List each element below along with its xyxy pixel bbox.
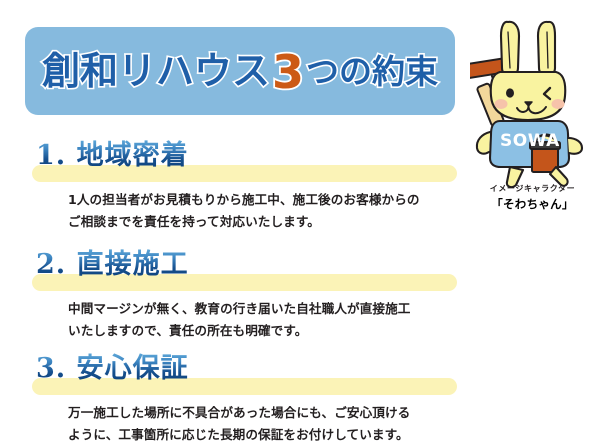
mascot-head	[491, 72, 565, 120]
page-title-prefix: 創和リハウス	[42, 52, 270, 90]
promise-2-heading-text: 直接施工	[77, 249, 189, 280]
promise-1-body-line-2: ご相談までを責任を持って対応いたします。	[68, 211, 600, 233]
promise-3-body-line-2: ように、工事箇所に応じた長期の保証をお付けしています。	[68, 424, 600, 446]
mascot-eye-left	[506, 88, 514, 97]
page-title-number: 3	[272, 49, 304, 95]
promise-3-number: 3	[36, 353, 56, 384]
promise-poster: 創和リハウス3つの約束	[0, 0, 600, 448]
promise-1-separator: .	[56, 140, 66, 171]
promise-3-header: 3. 安心保証	[0, 353, 600, 397]
promise-3-body-line-1: 万一施工した場所に不具合があった場合にも、ご安心頂ける	[68, 402, 600, 424]
header-banner: 創和リハウス3つの約束	[25, 27, 455, 115]
promise-1-heading-text: 地域密着	[77, 140, 189, 171]
promise-3-heading: 3. 安心保証	[36, 353, 189, 384]
promise-item-3: 3. 安心保証 万一施工した場所に不具合があった場合にも、ご安心頂ける ように、…	[0, 353, 600, 446]
promise-item-1: 1. 地域密着 1人の担当者がお見積もりから施工中、施工後のお客様からの ご相談…	[0, 140, 600, 233]
promise-2-heading: 2. 直接施工	[36, 249, 189, 280]
promise-2-body: 中間マージンが無く、教育の行き届いた自社職人が直接施工 いたしますので、責任の所…	[0, 298, 600, 342]
promise-1-header: 1. 地域密着	[0, 140, 600, 184]
promise-item-2: 2. 直接施工 中間マージンが無く、教育の行き届いた自社職人が直接施工 いたしま…	[0, 249, 600, 342]
page-title-suffix: つの約束	[306, 55, 438, 88]
promise-2-body-line-2: いたしますので、責任の所在も明確です。	[68, 320, 600, 342]
promise-1-number: 1	[36, 140, 56, 171]
promise-3-body: 万一施工した場所に不具合があった場合にも、ご安心頂ける ように、工事箇所に応じた…	[0, 402, 600, 446]
page-title: 創和リハウス3つの約束	[25, 27, 455, 115]
mascot-cheek-right	[552, 99, 565, 109]
mascot-cheek-left	[495, 99, 508, 109]
promise-3-separator: .	[56, 353, 66, 384]
promise-2-number: 2	[36, 249, 56, 280]
promise-1-body: 1人の担当者がお見積もりから施工中、施工後のお客様からの ご相談までを責任を持っ…	[0, 189, 600, 233]
promise-1-heading: 1. 地域密着	[36, 140, 189, 171]
promise-2-body-line-1: 中間マージンが無く、教育の行き届いた自社職人が直接施工	[68, 298, 600, 320]
promise-2-separator: .	[56, 249, 66, 280]
promise-2-header: 2. 直接施工	[0, 249, 600, 293]
promise-1-body-line-1: 1人の担当者がお見積もりから施工中、施工後のお客様からの	[68, 189, 600, 211]
promise-3-heading-text: 安心保証	[77, 353, 189, 384]
mascot-ear-right	[538, 22, 555, 76]
